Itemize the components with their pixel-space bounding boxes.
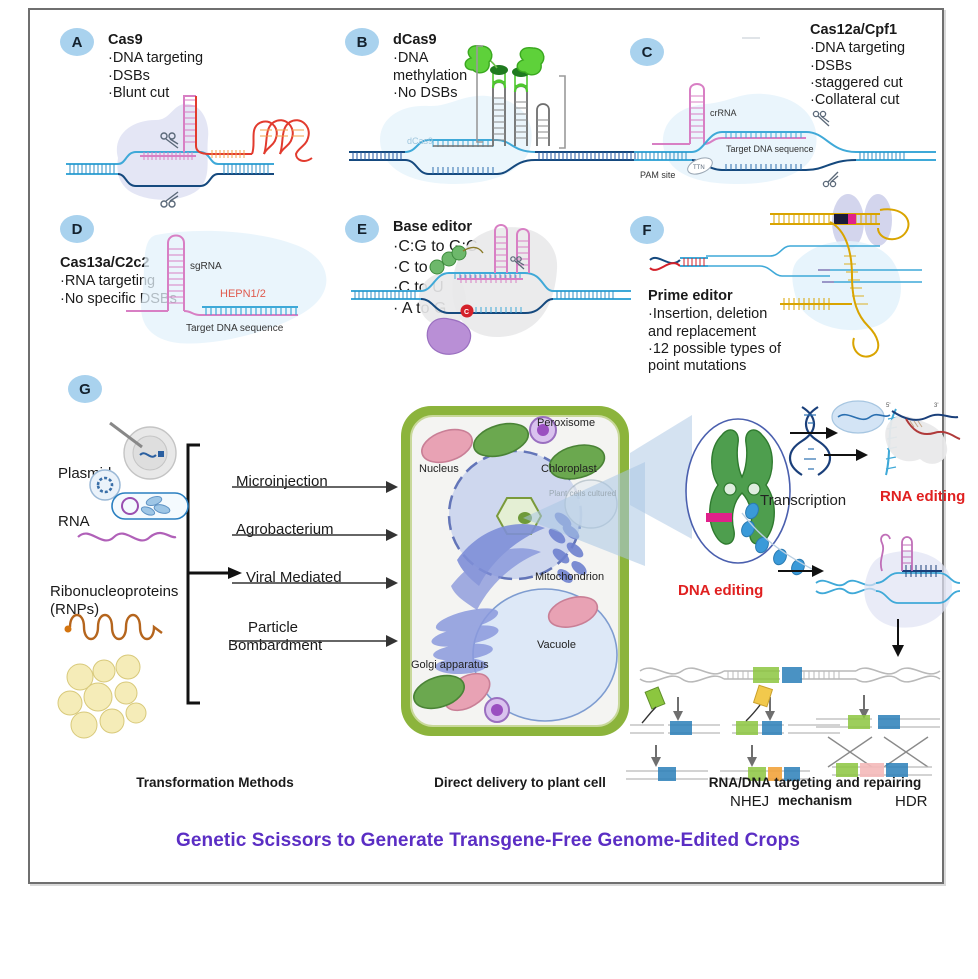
agrobacterium-icon — [112, 493, 188, 519]
microinjection-icon — [110, 423, 176, 479]
base-editor-illustration: C — [345, 215, 635, 365]
transformation-methods-graphic — [50, 415, 410, 775]
caption-transformation: Transformation Methods — [85, 775, 345, 790]
label-plant-cells-cultured: Plant cells cultured — [549, 489, 616, 498]
rnp-coil-icon — [65, 615, 163, 639]
plant-cell-graphic: Peroxisome Nucleus Chloroplast Plant cel… — [395, 400, 645, 750]
target-dna-label: Target DNA sequence — [186, 323, 284, 334]
sgrna-label: sgRNA — [190, 261, 222, 272]
dcas9-label: dCas9 — [407, 136, 433, 146]
label-nucleus: Nucleus — [419, 463, 459, 475]
cas13a-illustration: sgRNA HEPN1/2 Target DNA sequence — [60, 215, 360, 365]
panel-a-heading: Cas9 — [108, 32, 203, 49]
panel-e: E Base editor ·C:G to G:C ·C to A ·C to … — [345, 215, 635, 365]
panel-badge-c: C — [630, 38, 664, 66]
label-dna-editing: DNA editing — [678, 582, 763, 599]
figure-title: Genetic Scissors to Generate Transgene-F… — [30, 830, 946, 852]
pam-site-label: PAM site — [640, 170, 675, 180]
ttn-label: TTN — [693, 165, 705, 171]
panel-badge-a: A — [60, 28, 94, 56]
gold-particles-icon — [58, 655, 146, 738]
label-mitochondrion: Mitochondrion — [535, 571, 604, 583]
panel-c-heading: Cas12a/Cpf1 — [810, 22, 905, 39]
base-c-label: C — [464, 309, 469, 316]
cas12a-illustration: TTN crRNA Target DNA sequence PAM site — [630, 72, 940, 202]
scissors-icon — [823, 172, 838, 187]
svg-text:5': 5' — [886, 403, 890, 409]
panel-f: F Prime editor ·Insertion, deletion and … — [630, 210, 950, 375]
caption-repair-2: mechanism — [675, 793, 955, 808]
figure-frame: A Cas9 ·DNA targeting ·DSBs ·Blunt cut — [28, 8, 944, 884]
bullet: ·DNA targeting — [810, 40, 905, 57]
label-peroxisome: Peroxisome — [537, 417, 595, 429]
panel-d: D Cas13a/C2c2 ·RNA targeting ·No specifi… — [60, 215, 360, 365]
panel-b: B dCas9 ·DNA methylation ·No DSBs — [345, 28, 645, 203]
dcas9-illustration: dCas9 — [345, 48, 645, 203]
bullet: ·DNA targeting — [108, 50, 203, 67]
cas9-illustration — [60, 86, 350, 206]
hepn-label: HEPN1/2 — [220, 288, 266, 300]
prime-editor-illustration — [630, 198, 950, 363]
target-dna-label: Target DNA sequence — [726, 144, 814, 154]
label-chloroplast: Chloroplast — [541, 463, 597, 475]
caption-delivery: Direct delivery to plant cell — [380, 775, 660, 790]
label-rna-editing: RNA editing — [880, 488, 965, 505]
dna-helix-icon — [790, 407, 830, 475]
crrna-label: crRNA — [710, 108, 737, 118]
panel-badge-g: G — [68, 375, 102, 403]
scissors-icon — [813, 111, 829, 126]
label-transcription: Transcription — [760, 492, 846, 509]
label-vacuole: Vacuole — [537, 639, 576, 651]
panel-b-heading: dCas9 — [393, 32, 467, 49]
panel-a: A Cas9 ·DNA targeting ·DSBs ·Blunt cut — [60, 28, 350, 203]
repair-mechanism-graphic — [620, 645, 950, 795]
panel-g: G Plasmid RNA Ribonucleoproteins (RNPs) … — [50, 375, 930, 805]
svg-text:3': 3' — [934, 403, 938, 409]
caption-repair-1: RNA/DNA targeting and repairing — [675, 775, 955, 790]
bullet: ·DSBs — [108, 68, 203, 85]
label-golgi: Golgi apparatus — [411, 659, 489, 671]
panel-c: C Cas12a/Cpf1 ·DNA targeting ·DSBs ·stag… — [630, 22, 940, 202]
